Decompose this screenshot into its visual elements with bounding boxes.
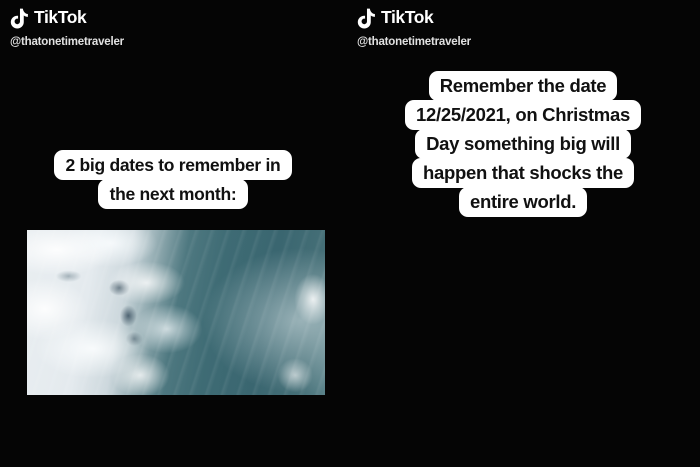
tiktok-username: @thatonetimetraveler [357, 37, 471, 49]
tiktok-username: @thatonetimetraveler [10, 37, 124, 49]
tiktok-header-right: TikTok @thatonetimetraveler [357, 5, 471, 49]
tiktok-header-left: TikTok @thatonetimetraveler [10, 5, 124, 49]
tiktok-music-note-icon [357, 8, 376, 29]
tiktok-wordmark: TikTok [381, 9, 433, 27]
tiktok-brand-row: TikTok [10, 5, 124, 31]
caption-line: happen that shocks the [412, 158, 634, 188]
caption-line: 12/25/2021, on Christmas [405, 100, 641, 130]
caption-line: Day something big will [415, 129, 631, 159]
video-caption-left: 2 big dates to remember in the next mont… [0, 150, 346, 209]
caption-line: Remember the date [429, 71, 618, 101]
caption-line: entire world. [459, 187, 587, 217]
tiktok-panel-right: TikTok @thatonetimetraveler Remember the… [346, 0, 700, 467]
tiktok-brand-row: TikTok [357, 5, 471, 31]
caption-line: the next month: [98, 179, 249, 209]
video-image-ocean-surf [27, 230, 325, 395]
video-thumbnail-left[interactable] [27, 230, 325, 395]
tiktok-panel-left: TikTok @thatonetimetraveler 2 big dates … [0, 0, 346, 467]
ocean-streak-texture [27, 230, 325, 395]
tiktok-music-note-icon [10, 8, 29, 29]
caption-line: 2 big dates to remember in [54, 150, 293, 180]
tiktok-screenshot-collage: TikTok @thatonetimetraveler 2 big dates … [0, 0, 700, 467]
tiktok-wordmark: TikTok [34, 9, 86, 27]
video-caption-right: Remember the date 12/25/2021, on Christm… [346, 71, 700, 217]
